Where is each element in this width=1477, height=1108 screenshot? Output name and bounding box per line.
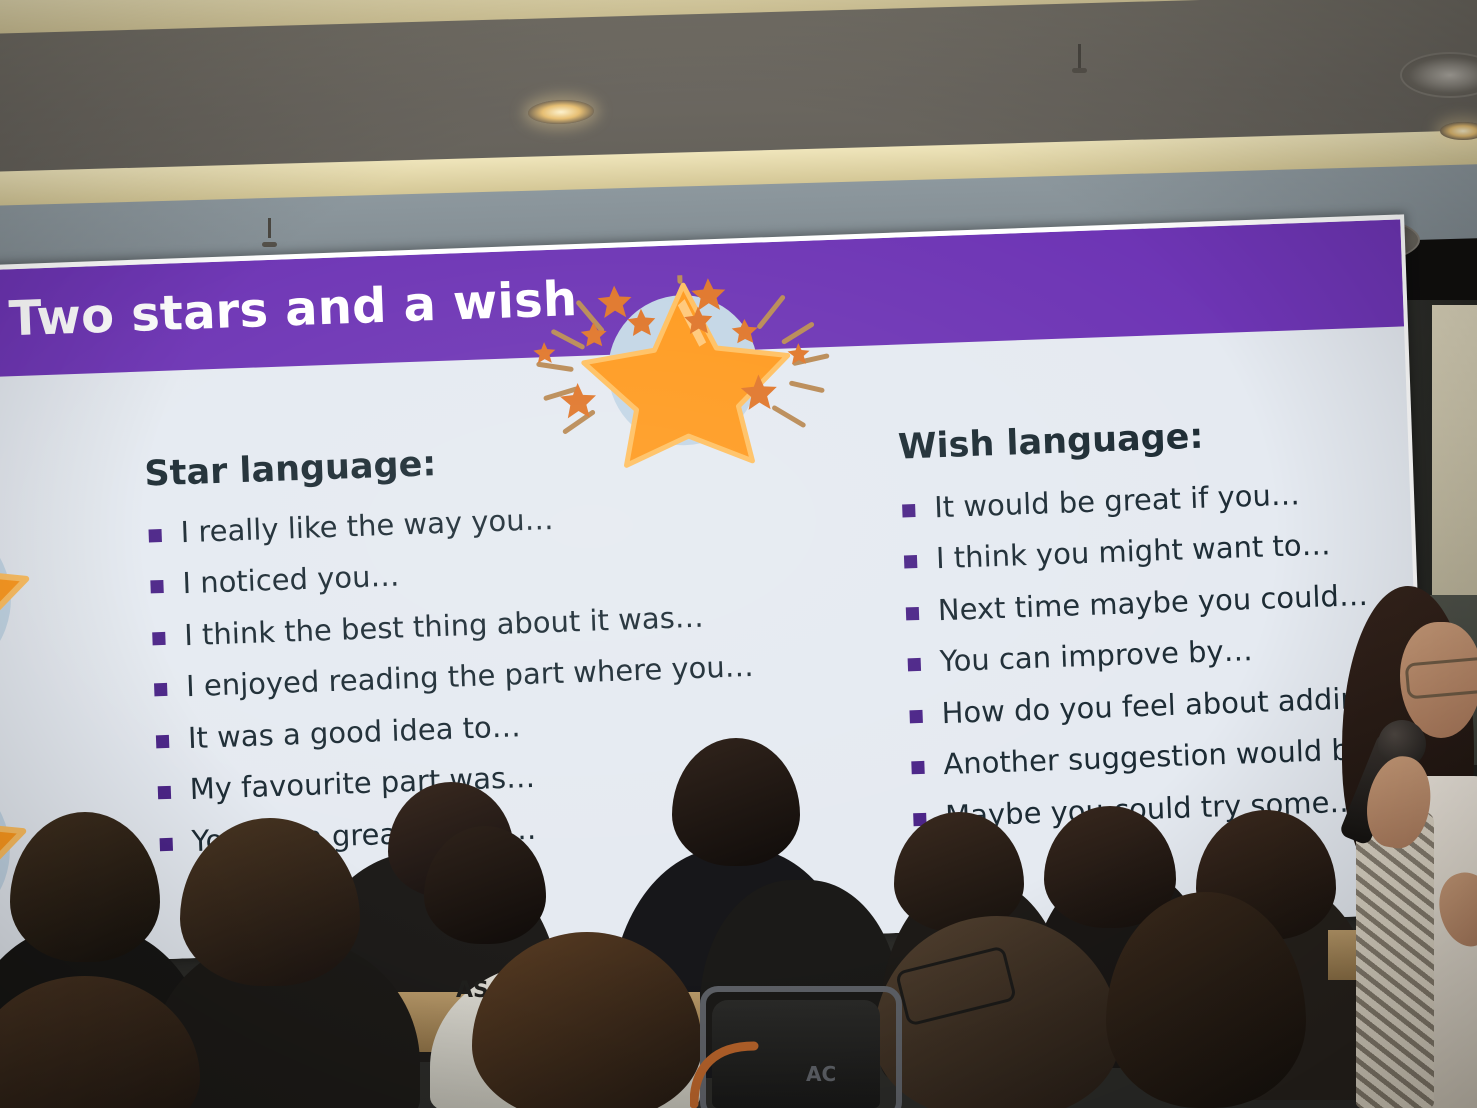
list-item: I really like the way you… xyxy=(146,497,747,549)
list-item: It would be great if you… xyxy=(900,475,1421,524)
list-item: I think you might want to… xyxy=(902,526,1423,575)
glasses-icon xyxy=(1405,656,1477,699)
star-language-heading: Star language: xyxy=(144,433,745,494)
chair-arm xyxy=(690,1040,760,1108)
list-item: I noticed you… xyxy=(148,548,749,600)
star-icon xyxy=(0,493,37,701)
blouse-pattern xyxy=(1356,812,1434,1108)
photo-scene: Two stars and a wish xyxy=(0,0,1477,1108)
ceiling-hook-icon xyxy=(268,218,271,238)
left-star-graphic-1 xyxy=(0,498,46,705)
wall-panel xyxy=(1432,305,1477,595)
list-item: I enjoyed reading the part where you… xyxy=(152,651,753,703)
presenter xyxy=(1330,580,1477,1108)
list-item: I think the best thing about it was… xyxy=(150,600,751,652)
list-item: It was a good idea to… xyxy=(153,703,754,755)
ceiling-hook-icon xyxy=(1078,44,1081,72)
wish-language-heading: Wish language: xyxy=(897,409,1418,468)
chair-label: AC xyxy=(806,1062,836,1086)
